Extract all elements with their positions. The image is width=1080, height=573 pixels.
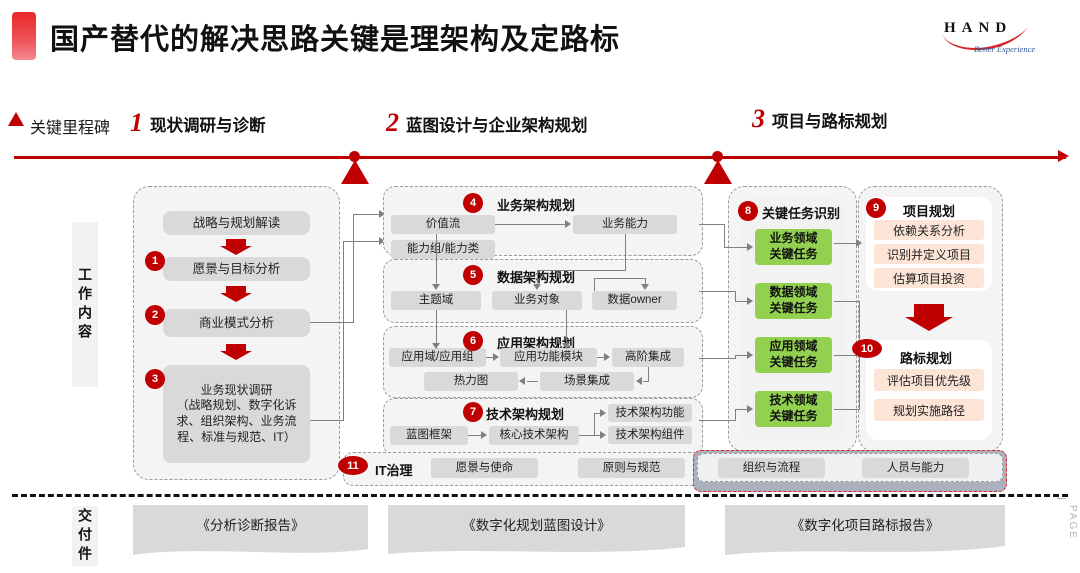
node-tech-arch-component[interactable]: 技术架构组件 (608, 426, 692, 444)
node-high-level-integration[interactable]: 高阶集成 (612, 348, 684, 367)
deliverable-label-3: 《数字化项目路标报告》 (725, 505, 1005, 543)
milestone-1-number: 1 (130, 108, 143, 138)
connector-s7-b (579, 435, 595, 436)
connector-s5-arrow3-icon (641, 284, 649, 290)
conn-s7-s8-arrow-icon (747, 405, 753, 413)
page-label: PAGE (1067, 505, 1078, 540)
milestone-3-number: 3 (752, 104, 765, 134)
conn-s6-s8-arrow-icon (747, 351, 753, 359)
milestone-label: 关键里程碑 (30, 114, 110, 138)
section7-title: 技术架构规划 (486, 404, 564, 423)
node-business-domain-key-task[interactable]: 业务领域 关键任务 (755, 229, 832, 265)
connector-s6-arrow1-icon (493, 353, 499, 361)
milestone-marker-2-icon (704, 160, 732, 184)
timeline-axis (14, 156, 1066, 159)
title-accent-bar (12, 12, 36, 60)
connector-s4-a (495, 224, 565, 225)
milestone-3-text: 项目与路标规划 (772, 108, 888, 132)
logo-wordmark: HAND (944, 20, 1012, 37)
arrow-down-2-icon (220, 286, 252, 302)
connector-s56-arrow1-icon (432, 343, 440, 349)
conn-s8-s9-arrow-icon (856, 239, 862, 247)
connector-s56-arrow2-icon (562, 343, 570, 349)
deliverable-label-2: 《数字化规划蓝图设计》 (388, 505, 685, 543)
node-organization-process[interactable]: 组织与流程 (718, 458, 825, 478)
milestone-triangle-icon (8, 112, 24, 126)
arrow-down-1-icon (220, 239, 252, 255)
badge-4: 4 (463, 193, 483, 213)
connector-p1-c (353, 214, 381, 215)
node-vision-mission[interactable]: 愿景与使命 (431, 458, 538, 478)
connector-s6-d (648, 367, 649, 381)
s8-node3-line1: 应用领域 (769, 339, 817, 355)
section10-title: 路标规划 (900, 348, 952, 367)
connector-s7-arrow3-icon (600, 431, 606, 439)
node-plan-implementation-path[interactable]: 规划实施路径 (874, 399, 984, 421)
s8-node3-line2: 关键任务 (769, 355, 817, 371)
section9-title: 项目规划 (903, 201, 955, 220)
section11-title: IT治理 (375, 460, 413, 479)
hand-logo: HAND Better Experience (926, 18, 1066, 60)
node-subject-domain[interactable]: 主题域 (391, 291, 481, 310)
s8-node2-line2: 关键任务 (769, 301, 817, 317)
s8-node4-line1: 技术领域 (769, 393, 817, 409)
node-estimate-investment[interactable]: 估算项目投资 (874, 268, 984, 288)
section4-title: 业务架构规划 (497, 195, 575, 214)
connector-s56-b (566, 310, 567, 344)
node-capability-group[interactable]: 能力组/能力类 (391, 240, 495, 259)
node-application-domain-key-task[interactable]: 应用领域 关键任务 (755, 337, 832, 373)
node-heatmap[interactable]: 热力图 (424, 372, 518, 391)
conn-s4-s8-arrow-icon (747, 243, 753, 251)
s8-node4-line2: 关键任务 (769, 409, 817, 425)
badge-9: 9 (866, 198, 886, 218)
conn-s8-s9-e (834, 409, 860, 410)
ribbon-tail-2-icon (388, 543, 685, 557)
connector-s56-a (436, 310, 437, 344)
connector-s45-c (537, 270, 626, 271)
milestone-phase-1: 1 现状调研与诊断 (130, 108, 266, 138)
milestone-marker-1-icon (341, 160, 369, 184)
conn-s6-s8-a (699, 358, 736, 359)
node-business-model-analysis[interactable]: 商业模式分析 (163, 309, 310, 337)
logo-tagline: Better Experience (974, 44, 1035, 54)
connector-s5-e (594, 278, 646, 279)
node-strategy-interpretation[interactable]: 战略与规划解读 (163, 211, 310, 235)
connector-p1-a (310, 322, 354, 323)
conn-s8-s9-f (859, 355, 860, 410)
conn-s4-s8-b (724, 224, 725, 247)
node-core-tech-architecture[interactable]: 核心技术架构 (489, 426, 579, 445)
arrow-down-big-icon (905, 304, 953, 332)
research-line-4: 程、标准与规范、IT） (177, 430, 296, 446)
node-dependency-analysis[interactable]: 依赖关系分析 (874, 220, 984, 240)
connector-s6-c (527, 381, 538, 382)
conn-s5-s8-a (699, 291, 736, 292)
badge-5: 5 (463, 265, 483, 285)
connector-s6-arrow3-icon (519, 377, 525, 385)
s8-node1-line1: 业务领域 (769, 231, 817, 247)
connector-s6-arrow4-icon (636, 377, 642, 385)
milestone-phase-2: 2 蓝图设计与企业架构规划 (386, 108, 588, 138)
connector-p1-e (343, 241, 344, 421)
work-content-row-label: 工作内容 (72, 222, 98, 387)
conn-s8-s9-a (834, 243, 857, 244)
page-title: 国产替代的解决思路关键是理架构及定路标 (50, 16, 620, 58)
conn-s8-s9-b (834, 301, 860, 302)
badge-6: 6 (463, 331, 483, 351)
badge-2: 2 (145, 305, 165, 325)
milestone-2-text: 蓝图设计与企业架构规划 (406, 112, 588, 136)
connector-s4-arrow-icon (565, 220, 571, 228)
connector-s45-d (537, 270, 538, 285)
milestone-phase-3: 3 项目与路标规划 (752, 104, 888, 134)
node-tech-arch-function[interactable]: 技术架构功能 (608, 404, 692, 422)
milestone-2-number: 2 (386, 108, 399, 138)
node-vision-goal-analysis[interactable]: 愿景与目标分析 (163, 257, 310, 281)
node-business-capability[interactable]: 业务能力 (573, 215, 677, 234)
node-people-capability[interactable]: 人员与能力 (862, 458, 969, 478)
research-line-2: （战略规划、数字化诉 (176, 398, 296, 414)
node-blueprint-framework[interactable]: 蓝图框架 (390, 426, 468, 445)
node-evaluate-priority[interactable]: 评估项目优先级 (874, 369, 984, 391)
badge-3: 3 (145, 369, 165, 389)
badge-8: 8 (738, 201, 758, 221)
deliverable-banner-1[interactable]: 《分析诊断报告》 (133, 505, 368, 557)
node-scenario-integration[interactable]: 场景集成 (540, 372, 634, 391)
deliverable-row-label: 交付件 (72, 506, 98, 566)
badge-1: 1 (145, 251, 165, 271)
node-value-stream[interactable]: 价值流 (391, 215, 495, 234)
ribbon-tail-3-icon (725, 543, 1005, 557)
s8-node2-line1: 数据领域 (769, 285, 817, 301)
s8-node1-line2: 关键任务 (769, 247, 817, 263)
conn-s7-s8-b (735, 409, 736, 421)
arrow-down-3-icon (220, 344, 252, 360)
conn-s5-s8-b (735, 291, 736, 301)
connector-s45-a (436, 234, 437, 285)
research-line-1: 业务现状调研 (200, 383, 272, 399)
node-business-object[interactable]: 业务对象 (492, 291, 582, 310)
badge-7: 7 (463, 402, 483, 422)
node-technology-domain-key-task[interactable]: 技术领域 关键任务 (755, 391, 832, 427)
conn-s7-s8-a (699, 420, 736, 421)
connector-s7-c (594, 413, 595, 436)
deliverable-banner-3[interactable]: 《数字化项目路标报告》 (725, 505, 1005, 557)
connector-p1-d (310, 420, 344, 421)
connector-p1-f (343, 241, 381, 242)
conn-s5-s8-arrow-icon (747, 297, 753, 305)
connector-p1-b (353, 214, 354, 323)
deliverable-label-1: 《分析诊断报告》 (133, 505, 368, 543)
conn-s4-s8-a (699, 224, 725, 225)
conn-s4-s8-c (724, 247, 748, 248)
connector-s5-f (594, 278, 595, 291)
node-identify-define-project[interactable]: 识别并定义项目 (874, 244, 984, 264)
section-divider (12, 494, 1068, 497)
research-line-3: 求、组织架构、业务流 (176, 414, 296, 430)
badge-10: 10 (852, 339, 882, 358)
connector-s6-e (643, 381, 649, 382)
connector-s7-arrow1-icon (481, 431, 487, 439)
node-app-function-module[interactable]: 应用功能模块 (500, 348, 597, 367)
connector-s45-arrow-icon (432, 284, 440, 290)
connector-s7-a (468, 435, 482, 436)
milestone-1-text: 现状调研与诊断 (150, 112, 266, 136)
connector-s6-arrow2-icon (604, 353, 610, 361)
connector-s45-arrow2-icon (533, 284, 541, 290)
node-data-owner[interactable]: 数据owner (592, 291, 677, 310)
node-principles-standards[interactable]: 原则与规范 (578, 458, 685, 478)
ribbon-tail-1-icon (133, 543, 368, 557)
node-business-status-research[interactable]: 业务现状调研 （战略规划、数字化诉 求、组织架构、业务流 程、标准与规范、IT） (163, 365, 310, 463)
section8-title: 关键任务识别 (762, 203, 840, 222)
timeline-arrowhead-icon (1058, 150, 1069, 162)
page-marker-dash (1057, 498, 1066, 499)
deliverable-banner-2[interactable]: 《数字化规划蓝图设计》 (388, 505, 685, 557)
connector-s7-arrow2-icon (600, 409, 606, 417)
node-data-domain-key-task[interactable]: 数据领域 关键任务 (755, 283, 832, 319)
badge-11: 11 (338, 456, 368, 475)
connector-s45-b (625, 234, 626, 271)
